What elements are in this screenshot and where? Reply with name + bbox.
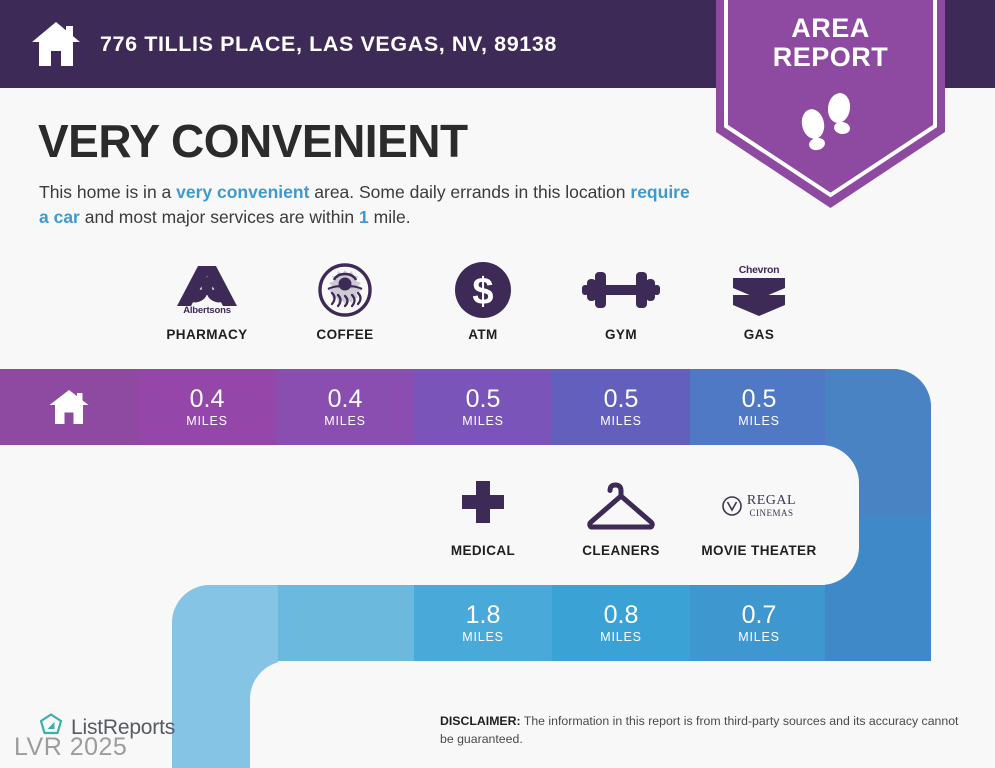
category-atm: $ ATM [414, 258, 552, 342]
icon-row-primary: Albertsons PHARMACY COFFEE [138, 258, 828, 342]
home-icon [30, 20, 82, 68]
chevron-logo-icon: Chevron [732, 258, 786, 322]
category-label: MEDICAL [451, 543, 515, 558]
distance-unit: MILES [462, 630, 504, 644]
bar-cell-gas: 0.5 MILES [690, 369, 828, 445]
albertsons-logo-icon: Albertsons [176, 258, 238, 322]
desc-part-4: mile. [369, 207, 411, 227]
category-movie-theater: REGAL CINEMAS MOVIE THEATER [690, 474, 828, 558]
clothes-hanger-icon [584, 474, 658, 538]
category-coffee: COFFEE [276, 258, 414, 342]
regal-cinemas-logo-icon: REGAL CINEMAS [722, 474, 796, 538]
category-label: PHARMACY [166, 327, 247, 342]
chevron-wordmark: Chevron [739, 264, 780, 276]
distance-unit: MILES [186, 414, 228, 428]
regal-line-1: REGAL [747, 494, 796, 508]
category-label: MOVIE THEATER [701, 543, 816, 558]
dumbbell-icon [581, 258, 661, 322]
area-report-badge: AREA REPORT [712, 0, 949, 212]
bar-cell-pharmacy: 0.4 MILES [138, 369, 276, 445]
property-address: 776 TILLIS PLACE, LAS VEGAS, NV, 89138 [100, 32, 557, 57]
distance-value: 0.5 [742, 386, 777, 412]
dollar-circle-icon: $ [454, 258, 512, 322]
category-cleaners: CLEANERS [552, 474, 690, 558]
category-pharmacy: Albertsons PHARMACY [138, 258, 276, 342]
desc-highlight-3: 1 [359, 207, 369, 227]
distance-unit: MILES [600, 414, 642, 428]
desc-highlight-1: very convenient [176, 182, 309, 202]
bar-cell-movie-theater: 0.7 MILES [690, 585, 828, 661]
bar-cell-atm: 0.5 MILES [414, 369, 552, 445]
regal-line-2: CINEMAS [749, 508, 793, 519]
category-medical: MEDICAL [414, 474, 552, 558]
distance-value: 0.8 [604, 602, 639, 628]
category-gas: Chevron GAS [690, 258, 828, 342]
distance-unit: MILES [738, 630, 780, 644]
connector-segment-upper [172, 585, 278, 677]
area-report-page: 776 TILLIS PLACE, LAS VEGAS, NV, 89138 A… [0, 0, 995, 768]
desc-part-1: This home is in a [39, 182, 176, 202]
distance-bar-row-1: 0.4 MILES 0.4 MILES 0.5 MILES 0.5 MILES … [0, 369, 931, 445]
summary-description: This home is in a very convenient area. … [39, 180, 704, 231]
distance-value: 1.8 [466, 602, 501, 628]
category-label: ATM [468, 327, 497, 342]
distance-unit: MILES [462, 414, 504, 428]
bar-cell-cleaners: 0.8 MILES [552, 585, 690, 661]
header-content: 776 TILLIS PLACE, LAS VEGAS, NV, 89138 [30, 0, 557, 88]
category-label: CLEANERS [582, 543, 659, 558]
disclaimer-label: DISCLAIMER: [440, 714, 521, 728]
distance-value: 0.4 [328, 386, 363, 412]
disclaimer-text: DISCLAIMER: The information in this repo… [440, 713, 960, 749]
bar-cell-medical: 1.8 MILES [414, 585, 552, 661]
distance-bar-row-2: 1.8 MILES 0.8 MILES 0.7 MILES [172, 585, 931, 661]
desc-part-2: area. Some daily errands in this locatio… [309, 182, 630, 202]
bar-cell-lead-b [278, 585, 414, 661]
category-label: GAS [744, 327, 774, 342]
bar-cell-gym: 0.5 MILES [552, 369, 690, 445]
distance-value: 0.7 [742, 602, 777, 628]
page-title: VERY CONVENIENT [38, 118, 468, 164]
category-label: COFFEE [316, 327, 373, 342]
regal-wordmark: REGAL CINEMAS [747, 494, 796, 519]
category-label: GYM [605, 327, 637, 342]
svg-text:$: $ [472, 271, 493, 313]
distance-value: 0.4 [190, 386, 225, 412]
bar-cell-coffee: 0.4 MILES [276, 369, 414, 445]
distance-unit: MILES [324, 414, 366, 428]
home-icon [48, 388, 90, 426]
distance-unit: MILES [600, 630, 642, 644]
bar-cell-home [0, 369, 138, 445]
icon-row-secondary: MEDICAL CLEANERS REGAL [414, 474, 828, 558]
starbucks-logo-icon [318, 258, 372, 322]
distance-value: 0.5 [466, 386, 501, 412]
watermark-text: LVR 2025 [14, 733, 127, 762]
desc-part-3: and most major services are within [80, 207, 359, 227]
distance-unit: MILES [738, 414, 780, 428]
albertsons-wordmark: Albertsons [183, 305, 231, 316]
medical-cross-icon [457, 474, 509, 538]
distance-value: 0.5 [604, 386, 639, 412]
category-gym: GYM [552, 258, 690, 342]
